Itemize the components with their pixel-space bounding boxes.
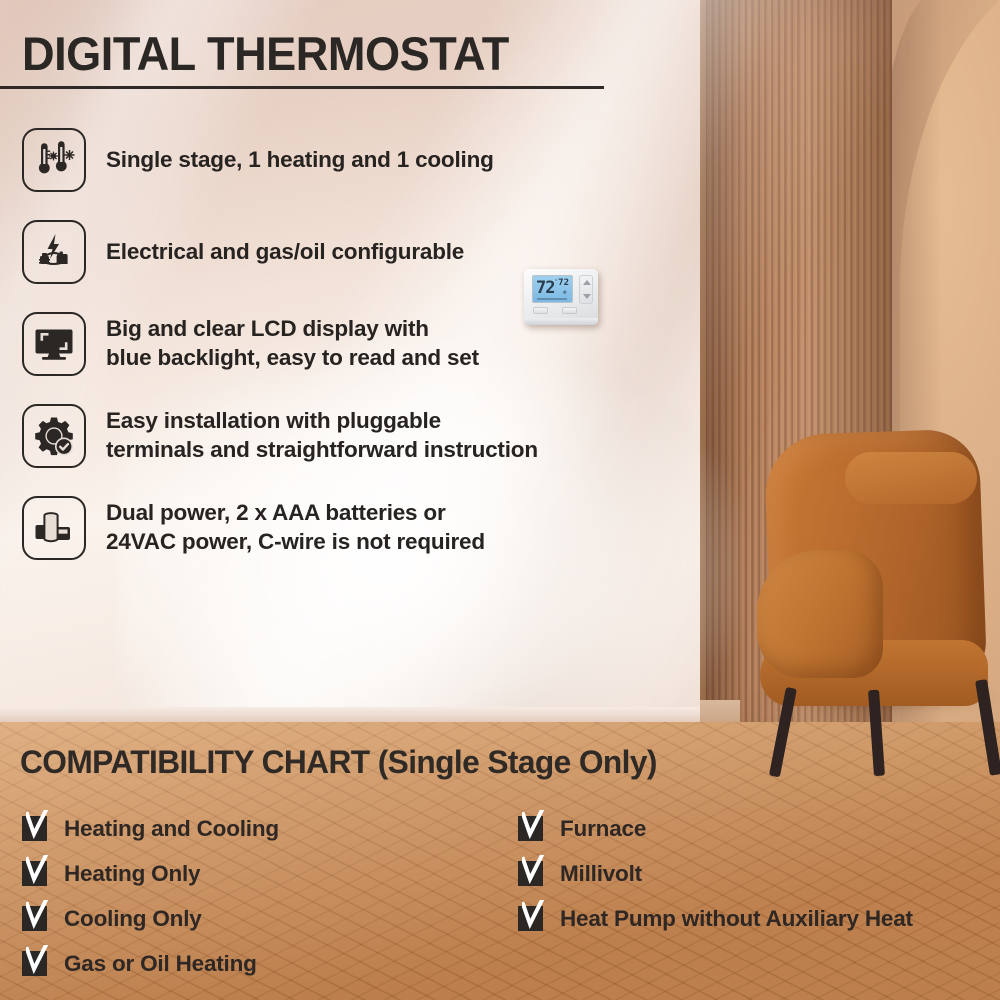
feature-text: Electrical and gas/oil configurable [106, 238, 464, 267]
list-item: Millivolt [518, 851, 913, 896]
checkbox-icon [22, 951, 47, 976]
checkbox-icon [22, 906, 47, 931]
feature-item: Single stage, 1 heating and 1 cooling [0, 128, 620, 192]
lcd-current-temperature: 72 [536, 278, 554, 298]
battery-power-icon [22, 496, 86, 560]
feature-line: blue backlight, easy to read and set [106, 344, 479, 373]
feature-line: Single stage, 1 heating and 1 cooling [106, 146, 494, 175]
feature-line: Easy installation with pluggable [106, 407, 538, 436]
list-item-label: Furnace [560, 816, 646, 842]
compatibility-chart-title: COMPATIBILITY CHART (Single Stage Only) [20, 744, 657, 781]
lcd-monitor-icon [22, 312, 86, 376]
compatibility-column-right: Furnace Millivolt Heat Pump without Auxi… [518, 806, 913, 941]
feature-item: Easy installation with pluggable termina… [0, 404, 620, 468]
lcd-mode-icons: ❄ [563, 290, 567, 296]
checkbox-icon [518, 861, 543, 886]
list-item-label: Cooling Only [64, 906, 202, 932]
list-item-label: Gas or Oil Heating [64, 951, 257, 977]
gas-oil-electric-icon [22, 220, 86, 284]
list-item-label: Heating Only [64, 861, 200, 887]
fan-button [562, 307, 577, 314]
feature-line: 24VAC power, C-wire is not required [106, 528, 485, 557]
checkbox-icon [518, 816, 543, 841]
list-item: Furnace [518, 806, 913, 851]
mode-button [533, 307, 548, 314]
feature-text: Big and clear LCD display with blue back… [106, 315, 479, 373]
lcd-degree-symbol: ° [555, 279, 557, 285]
list-item: Heat Pump without Auxiliary Heat [518, 896, 913, 941]
list-item: Heating and Cooling [22, 806, 279, 851]
lcd-set-temperature: 72 [558, 278, 569, 288]
wall-thermostat: 72 ° 72 ❄ [524, 269, 598, 325]
checkbox-icon [22, 816, 47, 841]
list-item-label: Heating and Cooling [64, 816, 279, 842]
infographic-content: DIGITAL THERMOSTAT [0, 0, 1000, 1000]
feature-item: Dual power, 2 x AAA batteries or 24VAC p… [0, 496, 620, 560]
list-item: Heating Only [22, 851, 279, 896]
lcd-status-bar [537, 298, 567, 300]
list-item-label: Heat Pump without Auxiliary Heat [560, 906, 913, 932]
thermometer-hot-cold-icon [22, 128, 86, 192]
thermostat-arrow-pad [579, 275, 593, 304]
list-item: Gas or Oil Heating [22, 941, 279, 986]
feature-line: Electrical and gas/oil configurable [106, 238, 464, 267]
thermostat-base-trim [524, 318, 598, 325]
feature-text: Easy installation with pluggable termina… [106, 407, 538, 465]
thermostat-lcd-screen: 72 ° 72 ❄ [532, 275, 573, 303]
compatibility-column-left: Heating and Cooling Heating Only Cooling… [22, 806, 279, 986]
feature-line: Dual power, 2 x AAA batteries or [106, 499, 485, 528]
down-arrow-button [583, 294, 591, 299]
up-arrow-button [583, 280, 591, 285]
feature-text: Dual power, 2 x AAA batteries or 24VAC p… [106, 499, 485, 557]
feature-list: Single stage, 1 heating and 1 cooling [0, 128, 620, 588]
checkbox-icon [518, 906, 543, 931]
feature-line: terminals and straightforward instructio… [106, 436, 538, 465]
title-underline [0, 86, 604, 89]
infographic-canvas: DIGITAL THERMOSTAT [0, 0, 1000, 1000]
gear-check-icon [22, 404, 86, 468]
list-item: Cooling Only [22, 896, 279, 941]
feature-line: Big and clear LCD display with [106, 315, 479, 344]
feature-text: Single stage, 1 heating and 1 cooling [106, 146, 494, 175]
list-item-label: Millivolt [560, 861, 642, 887]
page-title: DIGITAL THERMOSTAT [22, 26, 509, 81]
checkbox-icon [22, 861, 47, 886]
